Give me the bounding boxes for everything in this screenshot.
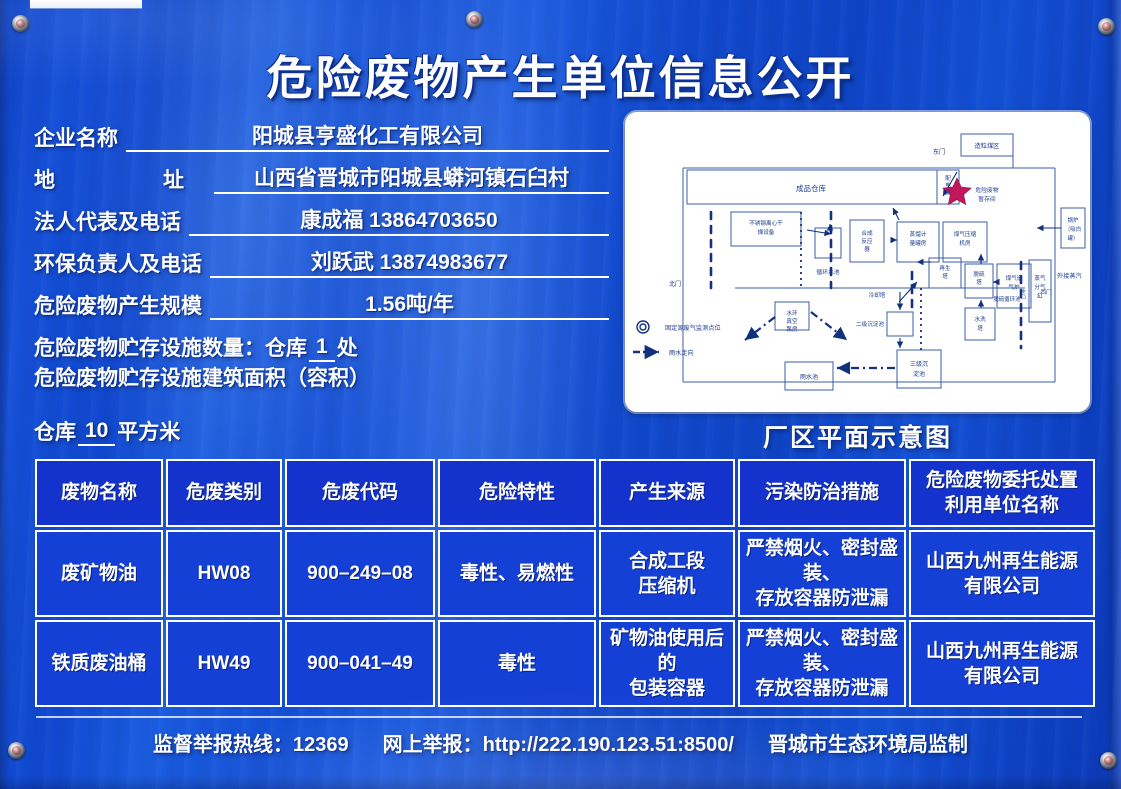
cell-entrusted-line1: 山西九州再生能源 (913, 549, 1091, 574)
info-label: 环保负责人及电话 (34, 248, 202, 278)
cell-measures-line2: 存放容器防泄漏 (742, 586, 902, 611)
th-entrusted-unit-line1: 危险废物委托处置 (913, 468, 1091, 493)
info-label: 仓库 (34, 416, 76, 446)
cell-waste-category: HW08 (166, 530, 282, 617)
plan-label-power-room: 配 (945, 175, 951, 182)
info-value: 刘跃武 13874983677 (210, 251, 609, 278)
info-row-facility-area-value: 仓库 10 平方米 (34, 404, 609, 446)
plan-label-desulfur: 脱硫 (973, 270, 985, 278)
table-row: 铁质废油桶 HW49 900–041–49 毒性 矿物油使用后的 包装容器 严禁… (35, 620, 1095, 707)
info-row-legal-rep: 法人代表及电话 康成福 13864703650 (34, 194, 609, 236)
plan-label-steam-header: 蒸气 (1034, 274, 1046, 282)
plan-label-finished-warehouse: 成品仓库 (796, 183, 826, 193)
board-top-lip (30, 0, 142, 9)
svg-text:量罐房: 量罐房 (910, 239, 927, 247)
svg-text:泵房: 泵房 (786, 325, 798, 333)
plan-label-east-gate: 东门 (933, 148, 945, 156)
table-row: 废矿物油 HW08 900–249–08 毒性、易燃性 合成工段 压缩机 严禁烟… (35, 530, 1095, 617)
cell-hazard-property: 毒性、易燃性 (438, 530, 596, 617)
svg-text:反应: 反应 (861, 237, 873, 245)
footer-online-report: 网上举报：http://222.190.123.51:8500/ (383, 728, 734, 757)
board-left-shadow (0, 0, 10, 789)
svg-text:塔: 塔 (977, 324, 983, 332)
footer-hotline: 监督举报热线：12369 (153, 728, 349, 757)
plan-label-coal-area: 造粒煤区 (975, 142, 1000, 150)
cell-entrusted-line2: 有限公司 (913, 574, 1091, 599)
svg-text:机房: 机房 (959, 239, 971, 247)
plan-label-water-wash: 水洗 (974, 315, 986, 323)
cell-waste-name: 铁质废油桶 (35, 620, 163, 707)
info-row-generation-scale: 危险废物产生规模 1.56吨/年 (34, 278, 609, 320)
svg-text:器: 器 (864, 246, 870, 253)
plant-layout-diagram: 成品仓库 配 电 室 造粒煤区 不锈钢离心干 燥设备 循环水池 合成 反应 器 … (625, 112, 1090, 412)
th-entrusted-unit: 危险废物委托处置 利用单位名称 (909, 459, 1095, 527)
plan-caption: 厂区平面示意图 (625, 418, 1090, 454)
plant-layout-svg: 成品仓库 配 电 室 造粒煤区 不锈钢离心干 燥设备 循环水池 合成 反应 器 … (625, 112, 1090, 412)
plan-label-second-settling: 二级沉淀池 (856, 320, 884, 328)
plan-label-centrifuge: 不锈钢离心干 (749, 219, 783, 227)
info-label: 危险废物贮存设施数量：仓库 (34, 332, 307, 362)
plan-label-cooling-tower: 冷却塔 (869, 291, 886, 299)
th-measures: 污染防治措施 (738, 459, 906, 527)
cell-waste-name: 废矿物油 (35, 530, 163, 617)
th-entrusted-unit-line2: 利用单位名称 (913, 493, 1091, 518)
plan-legend-text-1: 固定源废气监测点位 (665, 324, 721, 332)
plan-label-circ-water: 循环水池 (816, 268, 839, 276)
info-label: 地 址 (34, 164, 206, 194)
company-info-block: 企业名称 阳城县亨盛化工有限公司 地 址 山西省晋城市阳城县蟒河镇石臼村 法人代… (34, 110, 609, 446)
plan-label-desulf-circ: 脱硫循环池 (994, 295, 1022, 303)
info-label-suffix: 平方米 (117, 416, 180, 446)
table-header-row: 废物名称 危废类别 危废代码 危险特性 产生来源 污染防治措施 危险废物委托处置… (35, 459, 1095, 527)
cell-entrusted-line2: 有限公司 (913, 664, 1091, 689)
info-row-facility-area-label: 危险废物贮存设施建筑面积（容积） (34, 362, 609, 404)
cell-source: 合成工段 压缩机 (599, 530, 735, 617)
info-value: 山西省晋城市阳城县蟒河镇石臼村 (214, 167, 609, 194)
info-value: 阳城县亨盛化工有限公司 (126, 125, 609, 152)
info-label: 企业名称 (34, 122, 118, 152)
info-row-address: 地 址 山西省晋城市阳城县蟒河镇石臼村 (34, 152, 609, 194)
info-value: 10 (78, 419, 115, 446)
svg-text:电: 电 (945, 181, 951, 189)
svg-text:（吸白: （吸白 (1065, 225, 1081, 233)
plan-label-gas-compressor: 煤气压缩 (954, 230, 977, 238)
svg-text:暂存间: 暂存间 (978, 195, 996, 203)
cell-measures-line2: 存放容器防泄漏 (742, 676, 902, 701)
plan-label-water-vacuum: 水环 (786, 309, 798, 317)
footer: 监督举报热线：12369 网上举报：http://222.190.123.51:… (0, 728, 1121, 757)
cell-source: 矿物油使用后的 包装容器 (599, 620, 735, 707)
th-source: 产生来源 (599, 459, 735, 527)
table-bottom-rule (36, 716, 1082, 718)
cell-waste-category: HW49 (166, 620, 282, 707)
info-value: 1.56吨/年 (210, 293, 609, 320)
th-waste-category: 危废类别 (166, 459, 282, 527)
plan-label-ext-steam: 外接蒸汽 (1057, 272, 1082, 280)
th-waste-name: 废物名称 (35, 459, 163, 527)
svg-text:燥设备: 燥设备 (758, 228, 775, 236)
info-value: 康成福 13864703650 (189, 209, 609, 236)
cell-measures: 严禁烟火、密封盛装、 存放容器防泄漏 (738, 620, 906, 707)
cell-source-line2: 包装容器 (603, 676, 731, 701)
plan-label-north-gate: 北门 (1019, 289, 1027, 299)
cell-hazard-property: 毒性 (438, 620, 596, 707)
mounting-bolt-icon (1098, 18, 1115, 35)
plan-label-boiler-side: 锅炉 (1068, 216, 1079, 224)
info-label: 危险废物产生规模 (34, 290, 202, 320)
cell-source-line1: 合成工段 (603, 549, 731, 574)
svg-text:罐）: 罐） (1068, 234, 1079, 242)
svg-text:塔: 塔 (976, 278, 982, 286)
info-value: 1 (309, 335, 335, 362)
cell-waste-code: 900–249–08 (285, 530, 435, 617)
plan-label-west-gate: 西门 (1040, 288, 1052, 296)
plan-label-main-gate: 北门 (669, 280, 681, 288)
cell-entrusted-unit: 山西九州再生能源 有限公司 (909, 620, 1095, 707)
info-row-facility-count: 危险废物贮存设施数量：仓库 1 处 (34, 320, 609, 362)
cell-entrusted-line1: 山西九州再生能源 (913, 639, 1091, 664)
waste-table: 废物名称 危废类别 危废代码 危险特性 产生来源 污染防治措施 危险废物委托处置… (32, 456, 1098, 710)
plan-label-distill: 蒸馏计 (910, 230, 927, 238)
info-label-suffix: 处 (337, 332, 358, 362)
cell-measures: 严禁烟火、密封盛装、 存放容器防泄漏 (738, 530, 906, 617)
info-row-company-name: 企业名称 阳城县亨盛化工有限公司 (34, 110, 609, 152)
waste-table-wrapper: 废物名称 危废类别 危废代码 危险特性 产生来源 污染防治措施 危险废物委托处置… (32, 456, 1090, 710)
board-bottom-shadow (0, 775, 1121, 789)
svg-text:塔: 塔 (942, 272, 948, 280)
page-title: 危险废物产生单位信息公开 (0, 42, 1121, 108)
cell-source-line1: 矿物油使用后的 (603, 626, 731, 676)
svg-text:淀池: 淀池 (913, 370, 925, 378)
svg-text:室: 室 (945, 188, 951, 196)
cell-measures-line1: 严禁烟火、密封盛装、 (742, 536, 902, 586)
mounting-bolt-icon (466, 11, 483, 28)
info-label: 危险废物贮存设施建筑面积（容积） (34, 367, 370, 390)
cell-waste-code: 900–041–49 (285, 620, 435, 707)
plan-label-hazard-store: 危险废物 (975, 186, 998, 194)
cell-measures-line1: 严禁烟火、密封盛装、 (742, 626, 902, 676)
th-waste-code: 危废代码 (285, 459, 435, 527)
plan-label-regen: 再生 (939, 264, 951, 272)
information-board: 危险废物产生单位信息公开 企业名称 阳城县亨盛化工有限公司 地 址 山西省晋城市… (0, 0, 1121, 789)
plan-label-synth-reactor: 合成 (861, 229, 873, 237)
cell-source-line2: 压缩机 (603, 574, 731, 599)
plan-legend-text-2: 雨水走向 (669, 349, 694, 357)
plan-label-rain-pool: 雨水池 (800, 373, 818, 381)
th-hazard-property: 危险特性 (438, 459, 596, 527)
plan-label-third-settling: 三级沉 (910, 360, 928, 368)
plan-label-gas-furnace: 煤气造 (1006, 274, 1023, 282)
svg-text:真空: 真空 (786, 317, 798, 325)
footer-authority: 晋城市生态环境局监制 (768, 728, 968, 757)
mounting-bolt-icon (12, 15, 29, 32)
cell-entrusted-unit: 山西九州再生能源 有限公司 (909, 530, 1095, 617)
info-label: 法人代表及电话 (34, 206, 181, 236)
plan-legend (633, 321, 659, 352)
svg-text:气炉: 气炉 (1008, 283, 1020, 291)
board-right-shadow (1105, 0, 1121, 789)
info-row-env-officer: 环保负责人及电话 刘跃武 13874983677 (34, 236, 609, 278)
